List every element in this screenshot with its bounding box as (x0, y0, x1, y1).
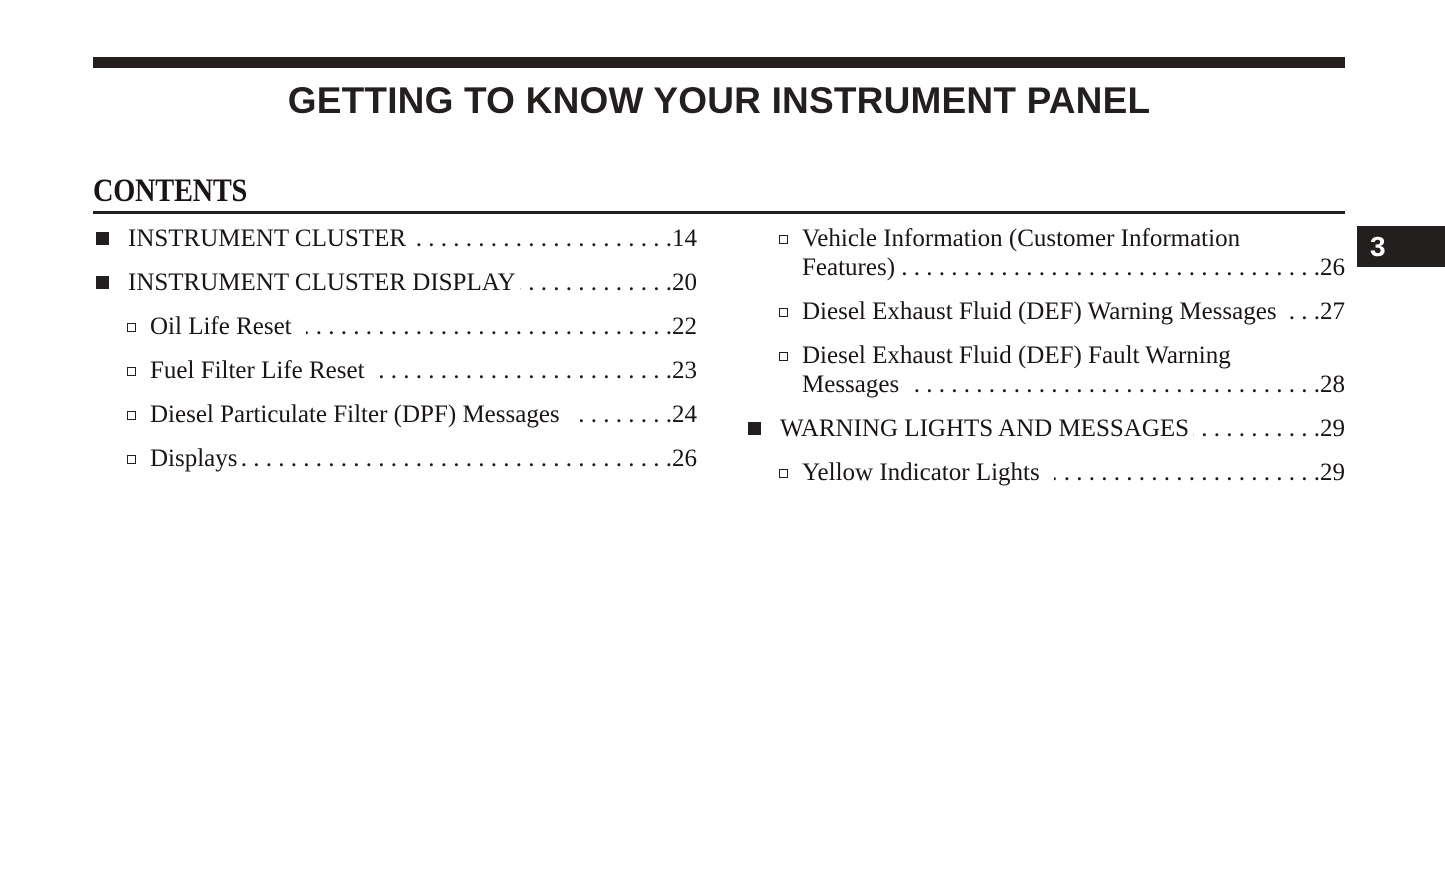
bullet-glyph (779, 235, 788, 244)
bullet-glyph (96, 232, 109, 245)
dot-leader (520, 268, 672, 297)
toc-entry-label: Diesel Exhaust Fluid (DEF) Warning Messa… (802, 297, 1277, 326)
dot-leader (574, 400, 672, 429)
toc-entry[interactable]: Vehicle Information (Customer Informatio… (745, 224, 1345, 282)
toc-entry[interactable]: INSTRUMENT CLUSTER DISPLAY20 (93, 268, 697, 297)
toc-entry-line: Messages28 (802, 370, 1345, 399)
toc-entry-line: Diesel Exhaust Fluid (DEF) Warning Messa… (802, 297, 1345, 326)
toc-entry[interactable]: WARNING LIGHTS AND MESSAGES29 (745, 414, 1345, 443)
toc-entry-body: Diesel Particulate Filter (DPF) Messages… (150, 400, 697, 429)
toc-page-number: 26 (672, 444, 697, 473)
hollow-square-bullet-icon (775, 224, 805, 253)
dot-leader (913, 370, 1320, 399)
toc-entry-body: WARNING LIGHTS AND MESSAGES29 (780, 414, 1345, 443)
toc-page-number: 26 (1320, 253, 1345, 282)
hollow-square-bullet-icon (775, 341, 805, 370)
bullet-glyph (748, 422, 761, 435)
toc-entry-body: INSTRUMENT CLUSTER14 (128, 224, 697, 253)
dot-leader (306, 312, 672, 341)
toc-page-number: 29 (1320, 414, 1345, 443)
toc-entry-line: Oil Life Reset22 (150, 312, 697, 341)
toc-entry-body: Displays26 (150, 444, 697, 473)
filled-square-bullet-icon (745, 414, 775, 443)
toc-entry-label: Diesel Exhaust Fluid (DEF) Fault Warning (802, 342, 1231, 369)
contents-heading: CONTENTS (93, 174, 247, 208)
toc-entry-label: Vehicle Information (Customer Informatio… (802, 225, 1240, 252)
toc-entry-line-first: Vehicle Information (Customer Informatio… (802, 224, 1345, 253)
bullet-glyph (127, 323, 136, 332)
toc-entry-line: INSTRUMENT CLUSTER DISPLAY20 (128, 268, 697, 297)
chapter-index-tab: 3 (1357, 226, 1445, 267)
toc-entry-label: Features) (802, 253, 895, 282)
toc-column-left: INSTRUMENT CLUSTER14INSTRUMENT CLUSTER D… (93, 224, 697, 488)
toc-entry-label: WARNING LIGHTS AND MESSAGES (780, 414, 1189, 443)
toc-page-number: 20 (672, 268, 697, 297)
toc-entry-label: INSTRUMENT CLUSTER DISPLAY (128, 268, 516, 297)
toc-entry-label: INSTRUMENT CLUSTER (128, 224, 406, 253)
toc-page-number: 28 (1320, 370, 1345, 399)
bullet-glyph (127, 455, 136, 464)
bullet-glyph (779, 308, 788, 317)
dot-leader (379, 356, 672, 385)
bullet-glyph (779, 469, 788, 478)
toc-entry-label: Displays (150, 444, 238, 473)
toc-page-number: 29 (1320, 458, 1345, 487)
toc-entry-label: Yellow Indicator Lights (802, 458, 1040, 487)
toc-entry-line: Fuel Filter Life Reset23 (150, 356, 697, 385)
bullet-glyph (779, 352, 788, 361)
toc-entry-body: Vehicle Information (Customer Informatio… (802, 224, 1345, 282)
toc-entry-body: Yellow Indicator Lights29 (802, 458, 1345, 487)
toc-entry[interactable]: Diesel Exhaust Fluid (DEF) Warning Messa… (745, 297, 1345, 326)
toc-entry-body: Diesel Exhaust Fluid (DEF) Fault Warning… (802, 341, 1345, 399)
dot-leader (899, 253, 1320, 282)
toc-entry-body: Fuel Filter Life Reset23 (150, 356, 697, 385)
bullet-glyph (127, 367, 136, 376)
toc-entry[interactable]: Fuel Filter Life Reset23 (93, 356, 697, 385)
page-title: GETTING TO KNOW YOUR INSTRUMENT PANEL (93, 80, 1345, 122)
toc-entry[interactable]: INSTRUMENT CLUSTER14 (93, 224, 697, 253)
toc-entry-label: Fuel Filter Life Reset (150, 356, 365, 385)
toc-entry-line: Diesel Particulate Filter (DPF) Messages… (150, 400, 697, 429)
toc-page-number: 24 (672, 400, 697, 429)
dot-leader (410, 224, 672, 253)
hollow-square-bullet-icon (775, 458, 805, 487)
hollow-square-bullet-icon (123, 356, 153, 385)
toc-column-right: Vehicle Information (Customer Informatio… (745, 224, 1345, 502)
hollow-square-bullet-icon (775, 297, 805, 326)
toc-entry-label: Oil Life Reset (150, 312, 292, 341)
toc-entry[interactable]: Displays26 (93, 444, 697, 473)
filled-square-bullet-icon (93, 268, 123, 297)
toc-entry[interactable]: Oil Life Reset22 (93, 312, 697, 341)
toc-entry[interactable]: Yellow Indicator Lights29 (745, 458, 1345, 487)
header-rule (93, 57, 1345, 68)
dot-leader (1281, 297, 1320, 326)
toc-entry[interactable]: Diesel Particulate Filter (DPF) Messages… (93, 400, 697, 429)
hollow-square-bullet-icon (123, 400, 153, 429)
toc-page-number: 14 (672, 224, 697, 253)
toc-entry-body: Oil Life Reset22 (150, 312, 697, 341)
dot-leader (242, 444, 673, 473)
hollow-square-bullet-icon (123, 312, 153, 341)
toc-page-number: 27 (1320, 297, 1345, 326)
toc-entry-line: Features)26 (802, 253, 1345, 282)
toc-entry-label: Diesel Particulate Filter (DPF) Messages (150, 400, 560, 429)
bullet-glyph (127, 411, 136, 420)
contents-underline (93, 211, 1345, 214)
dot-leader (1054, 458, 1320, 487)
toc-entry-line: Yellow Indicator Lights29 (802, 458, 1345, 487)
toc-entry-body: INSTRUMENT CLUSTER DISPLAY20 (128, 268, 697, 297)
toc-entry-body: Diesel Exhaust Fluid (DEF) Warning Messa… (802, 297, 1345, 326)
hollow-square-bullet-icon (123, 444, 153, 473)
bullet-glyph (96, 276, 109, 289)
toc-entry-line: WARNING LIGHTS AND MESSAGES29 (780, 414, 1345, 443)
toc-page-number: 23 (672, 356, 697, 385)
toc-entry[interactable]: Diesel Exhaust Fluid (DEF) Fault Warning… (745, 341, 1345, 399)
toc-entry-label: Messages (802, 370, 899, 399)
toc-entry-line: INSTRUMENT CLUSTER14 (128, 224, 697, 253)
toc-page-number: 22 (672, 312, 697, 341)
dot-leader (1193, 414, 1320, 443)
toc-entry-line: Displays26 (150, 444, 697, 473)
toc-entry-line-first: Diesel Exhaust Fluid (DEF) Fault Warning (802, 341, 1345, 370)
filled-square-bullet-icon (93, 224, 123, 253)
